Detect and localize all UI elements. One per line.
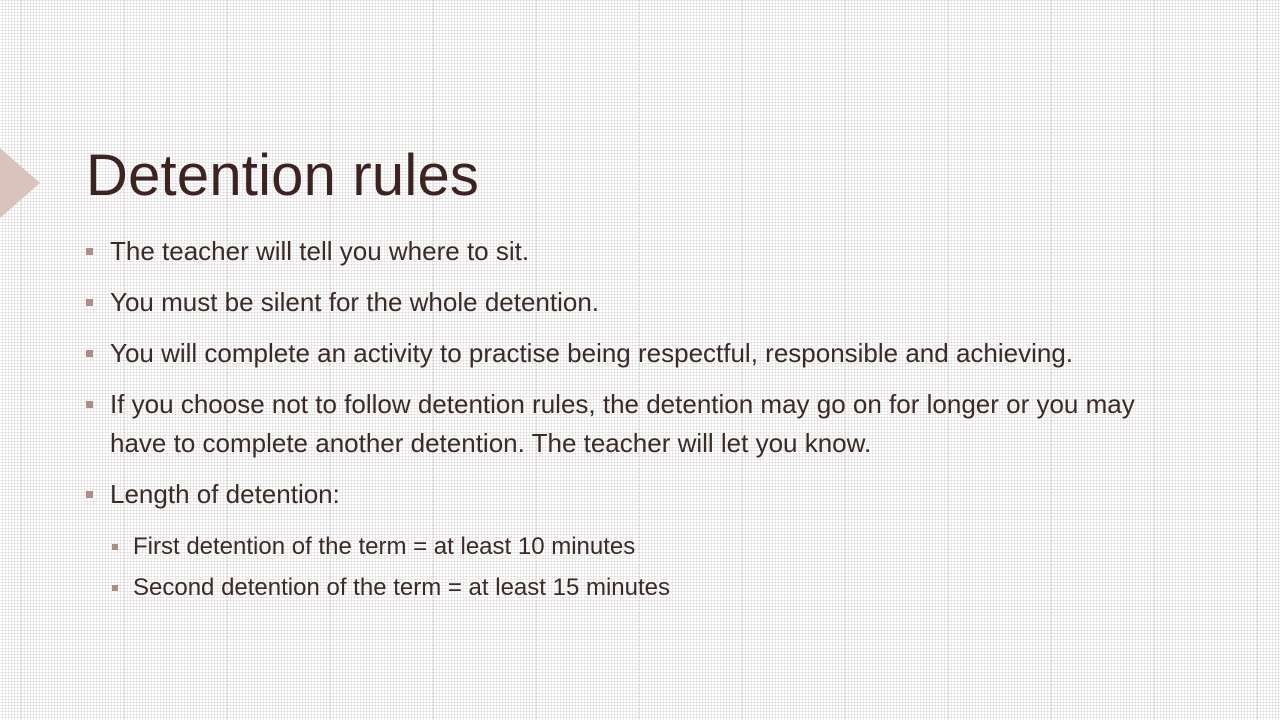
- list-item: If you choose not to follow detention ru…: [86, 385, 1146, 463]
- list-item-text: You must be silent for the whole detenti…: [110, 283, 1146, 322]
- list-item: You must be silent for the whole detenti…: [86, 283, 1146, 322]
- bullet-marker-icon: [86, 248, 93, 255]
- list-item: You will complete an activity to practis…: [86, 334, 1146, 373]
- bullet-marker-icon: [86, 350, 93, 357]
- list-item-text: Length of detention:: [110, 475, 1146, 514]
- sub-list-item-text: First detention of the term = at least 1…: [133, 526, 1146, 567]
- list-item: The teacher will tell you where to sit.: [86, 232, 1146, 271]
- sub-bullet-marker-icon: [112, 544, 118, 550]
- sub-bullet-marker-icon: [112, 585, 118, 591]
- list-item: Length of detention:: [86, 475, 1146, 514]
- sub-list-item: Second detention of the term = at least …: [112, 567, 1146, 608]
- page-title: Detention rules: [86, 146, 479, 207]
- list-item-text: The teacher will tell you where to sit.: [110, 232, 1146, 271]
- slide-canvas: Detention rules The teacher will tell yo…: [0, 0, 1280, 720]
- bullet-marker-icon: [86, 299, 93, 306]
- bullet-list: The teacher will tell you where to sit. …: [86, 232, 1146, 608]
- sub-list-item-text: Second detention of the term = at least …: [133, 567, 1146, 608]
- title-accent-arrow-icon: [0, 148, 40, 218]
- sub-list-item: First detention of the term = at least 1…: [112, 526, 1146, 567]
- list-item-text: If you choose not to follow detention ru…: [110, 385, 1146, 463]
- bullet-marker-icon: [86, 491, 93, 498]
- sub-bullet-list: First detention of the term = at least 1…: [112, 526, 1146, 608]
- list-item-text: You will complete an activity to practis…: [110, 334, 1146, 373]
- bullet-marker-icon: [86, 401, 93, 408]
